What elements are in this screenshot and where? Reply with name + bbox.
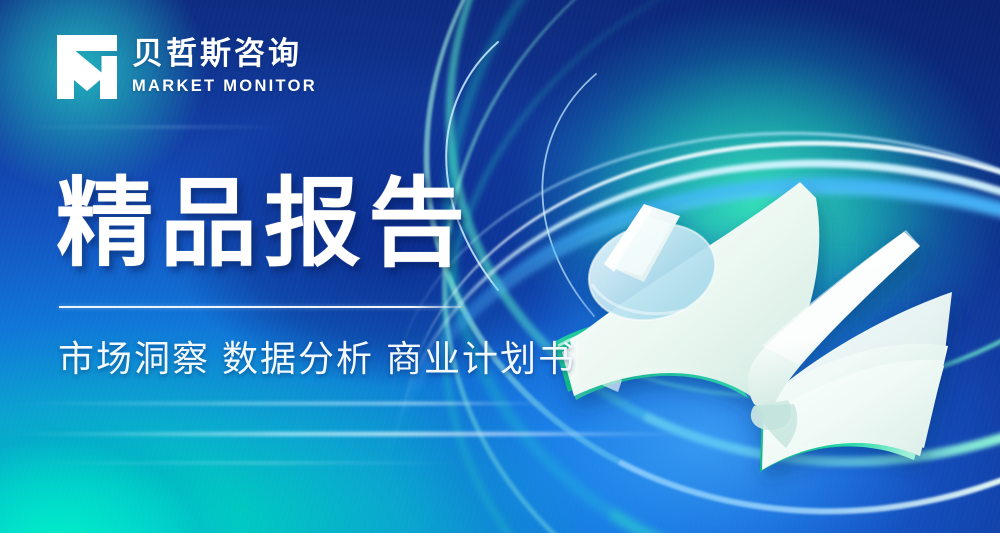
brand-logo-text: 贝哲斯咨询 MARKET MONITOR [132,37,317,97]
brand-name-en: MARKET MONITOR [132,77,317,97]
report-banner: 贝哲斯咨询 MARKET MONITOR 精品报告 市场洞察 数据分析 商业计划… [0,0,1000,533]
brand-name-cn: 贝哲斯咨询 [132,37,317,72]
light-streak [0,126,300,128]
title-divider [59,306,461,308]
open-book-illustration [548,160,968,460]
market-monitor-m-logo-icon [56,34,118,100]
page-subtitle: 市场洞察 数据分析 商业计划书 [58,336,576,381]
brand-logo[interactable]: 贝哲斯咨询 MARKET MONITOR [56,34,317,100]
page-title: 精品报告 [56,173,472,275]
open-book-icon [548,160,968,460]
